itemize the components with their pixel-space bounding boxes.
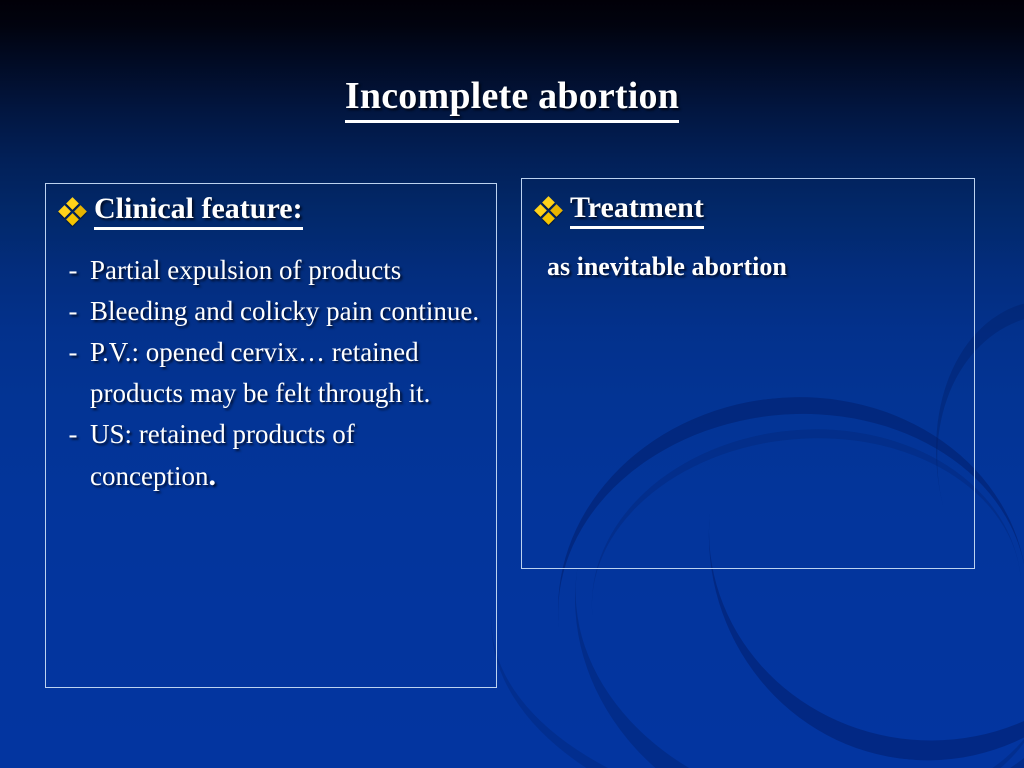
slide-canvas: Incomplete abortion Clinical feature: - … — [0, 0, 1024, 768]
list-item-text: Bleeding and colicky pain continue. — [88, 291, 484, 332]
list-item-text: US: retained products of conception. — [88, 414, 484, 497]
slide-title: Incomplete abortion — [0, 74, 1024, 123]
dash-marker: - — [58, 250, 88, 291]
slide-title-text: Incomplete abortion — [345, 74, 679, 123]
list-item: - US: retained products of conception. — [58, 414, 484, 497]
list-item: - P.V.: opened cervix… retained products… — [58, 332, 484, 414]
list-item-text: P.V.: opened cervix… retained products m… — [88, 332, 484, 414]
background-swirl-ribbon — [468, 574, 1024, 768]
list-item-text: Partial expulsion of products — [88, 250, 484, 291]
list-item-main-text: US: retained products of conception — [90, 419, 355, 491]
treatment-heading-row: Treatment — [536, 191, 704, 229]
treatment-heading: Treatment — [570, 191, 704, 229]
treatment-subtext: as inevitable abortion — [547, 251, 947, 283]
gold-diamond-cluster-bullet-icon — [536, 198, 562, 224]
list-item: - Bleeding and colicky pain continue. — [58, 291, 484, 332]
clinical-feature-panel: Clinical feature: - Partial expulsion of… — [45, 183, 497, 688]
dash-marker: - — [58, 414, 88, 455]
clinical-feature-list: - Partial expulsion of products - Bleedi… — [58, 250, 484, 497]
list-item-trailing-period: . — [208, 459, 216, 492]
treatment-panel: Treatment as inevitable abortion — [521, 178, 975, 569]
clinical-feature-heading-row: Clinical feature: — [60, 192, 303, 230]
clinical-feature-heading: Clinical feature: — [94, 192, 303, 230]
dash-marker: - — [58, 291, 88, 332]
gold-diamond-cluster-bullet-icon — [60, 199, 86, 225]
dash-marker: - — [58, 332, 88, 373]
list-item: - Partial expulsion of products — [58, 250, 484, 291]
